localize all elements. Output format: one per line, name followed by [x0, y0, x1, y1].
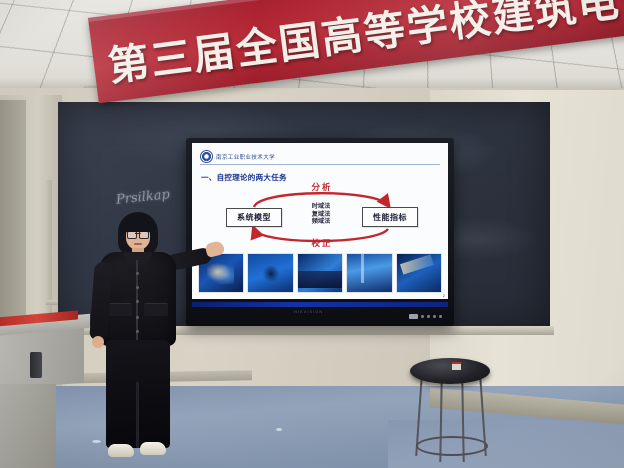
slide-photo-strip [198, 253, 442, 293]
jacket-button-4 [136, 316, 139, 319]
jacket-button-1 [136, 272, 139, 275]
diagram-box-performance: 性能指标 [362, 207, 418, 227]
strip-photo-4 [346, 253, 392, 293]
lectern-base [0, 384, 56, 468]
presenter-left-hand [92, 336, 104, 348]
slide-diagram: 分析 校正 系统模型 性能指标 时域法 复域法 频域法 [226, 183, 416, 251]
lectern-body [0, 327, 84, 389]
screen-brand-label: HIKVISION [294, 309, 323, 314]
screen-button-3-icon[interactable] [433, 315, 436, 318]
jacket-pocket-left [108, 304, 132, 316]
screen-power-icon[interactable] [409, 314, 418, 319]
presenter-hair-front [120, 214, 156, 232]
slide-heading: 一、自控理论的两大任务 [201, 172, 287, 183]
presenter-shoe-right [140, 442, 166, 455]
presenter [78, 212, 198, 468]
strip-photo-2 [247, 253, 293, 293]
university-logo: 南京工业职业技术大学 [200, 150, 275, 163]
stool-footrest-ring [416, 436, 488, 456]
university-name: 南京工业职业技术大学 [216, 153, 275, 161]
screen-button-1-icon[interactable] [421, 315, 424, 318]
diagram-bottom-label: 校正 [294, 237, 350, 249]
stool-seat [410, 358, 490, 384]
presentation-slide: 南京工业职业技术大学 一、自控理论的两大任务 分析 [192, 143, 448, 299]
trouser-seam [136, 382, 139, 448]
left-wall-shadow [0, 100, 26, 330]
display-screen[interactable]: 南京工业职业技术大学 一、自控理论的两大任务 分析 [186, 138, 454, 326]
waste-bin [30, 352, 42, 378]
diagram-methods: 时域法 复域法 频域法 [292, 203, 350, 226]
lectern [0, 318, 90, 468]
screen-button-4-icon[interactable] [439, 315, 442, 318]
slide-header-rule [200, 164, 440, 165]
strip-photo-3 [297, 253, 343, 293]
diagram-box-system-model: 系统模型 [226, 208, 282, 227]
stool [404, 358, 496, 464]
stool-seat-tag [452, 362, 461, 370]
strip-photo-5 [396, 253, 442, 293]
method-3: 频域法 [292, 218, 350, 226]
slide-page-number: 2 [443, 293, 445, 298]
method-1: 时域法 [292, 203, 350, 211]
jacket-button-3 [136, 300, 139, 303]
presenter-shoe-left [108, 444, 134, 457]
jacket-pocket-right [144, 304, 168, 316]
screen-button-2-icon[interactable] [427, 315, 430, 318]
photo-scene: Prsilkap 第三届全国高等学校建筑电气与智能化专业教师讲课 南京工业职业技… [0, 0, 624, 468]
university-seal-icon [200, 150, 213, 163]
screen-control-buttons[interactable] [409, 314, 442, 319]
floor-mark-3 [276, 428, 282, 431]
diagram-top-label: 分析 [294, 181, 350, 193]
jacket-button-5 [136, 330, 139, 333]
screen-panel: 南京工业职业技术大学 一、自控理论的两大任务 分析 [192, 143, 448, 299]
jacket-button-2 [136, 286, 139, 289]
presenter-mouth [134, 243, 142, 245]
screen-bottom-bar [192, 302, 448, 307]
